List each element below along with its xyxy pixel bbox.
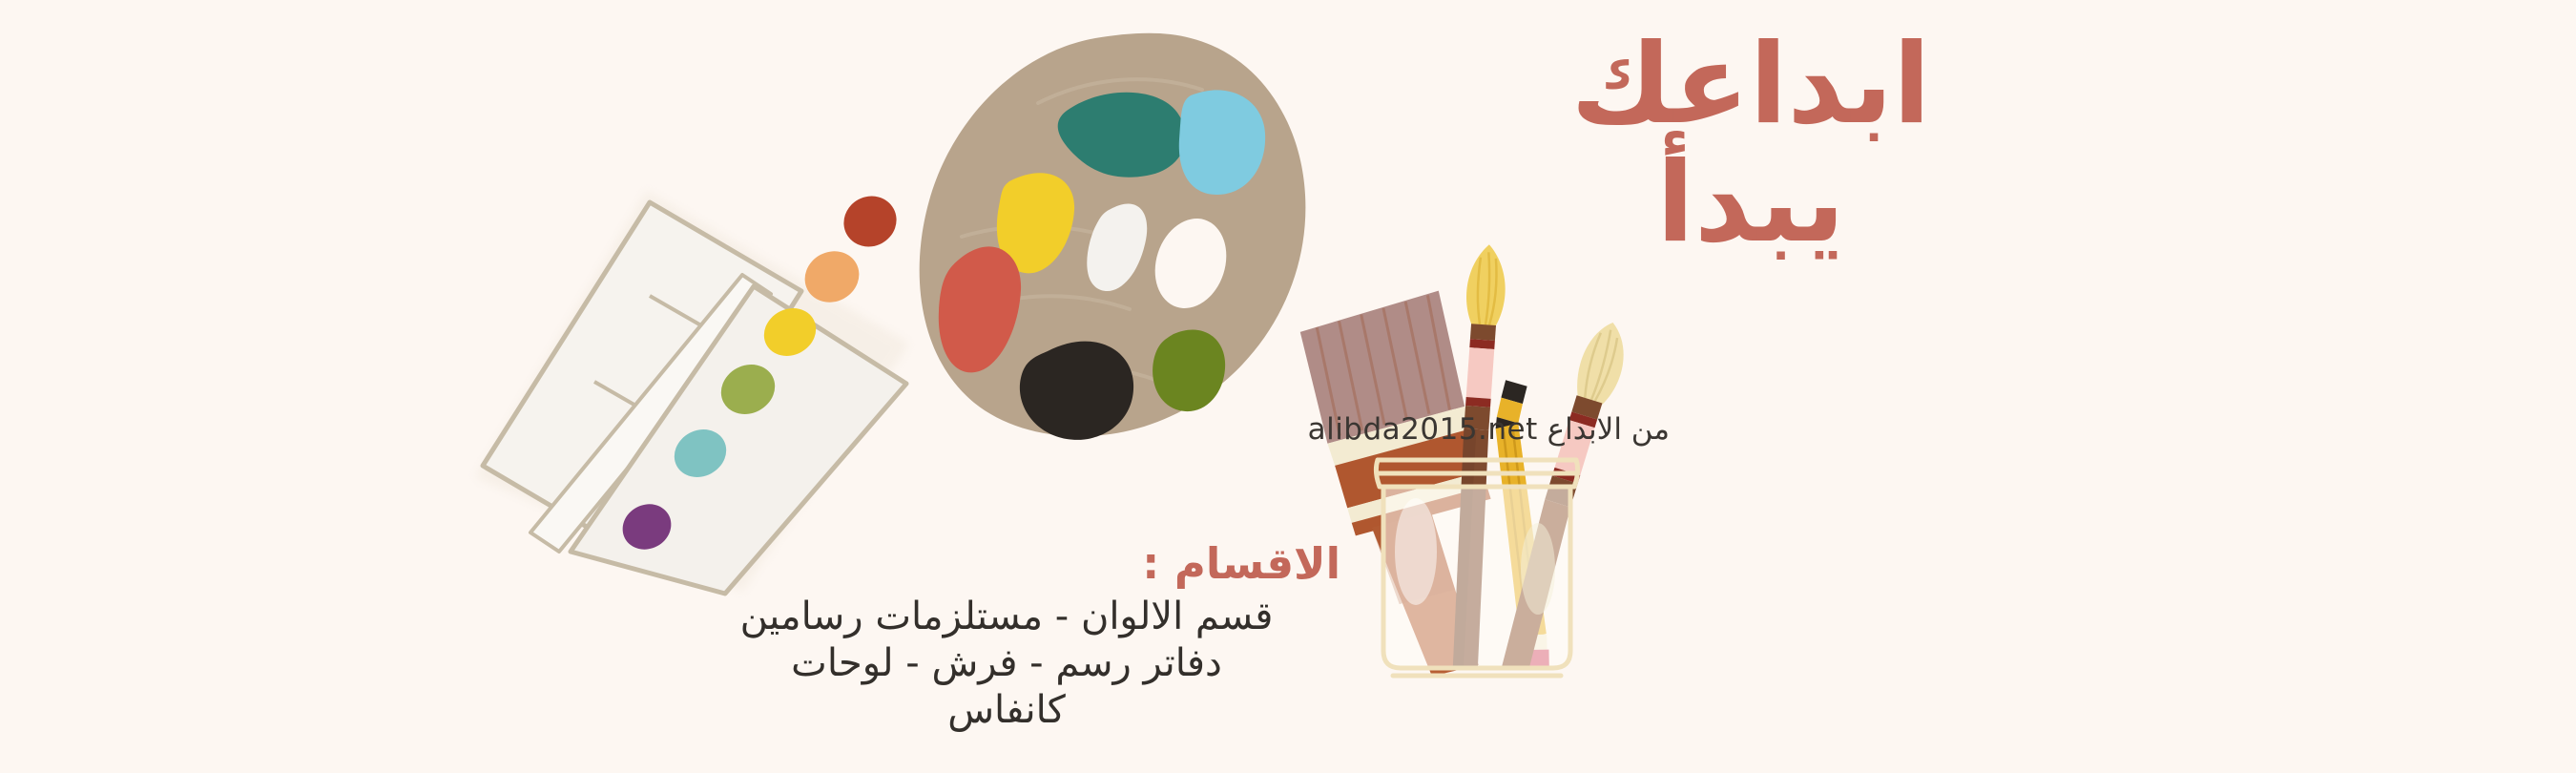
sections-line-1: قسم الالوان - مستلزمات رسامين bbox=[673, 594, 1340, 640]
tagline: من الابداع alibda2015.net bbox=[1308, 412, 1670, 447]
headline-line-1: ابداعك bbox=[1455, 29, 2046, 141]
blob-olive bbox=[1153, 329, 1225, 411]
glass-jar bbox=[1376, 460, 1577, 676]
sections-list: قسم الالوان - مستلزمات رسامين دفاتر رسم … bbox=[673, 594, 1340, 735]
artist-palette-illustration bbox=[904, 17, 1315, 456]
brush-jar-illustration bbox=[1334, 237, 1620, 685]
watercolor-set-illustration bbox=[456, 162, 914, 601]
sections-line-2: دفاتر رسم - فرش - لوحات bbox=[673, 640, 1340, 687]
sections-title: الاقسام : bbox=[1142, 538, 1340, 589]
promo-banner: ابداعك يبدأ من الابداع alibda2015.net ال… bbox=[0, 0, 2576, 773]
sections-line-3: كانفاس bbox=[673, 687, 1340, 734]
headline-line-2: يبدأ bbox=[1455, 147, 2046, 260]
headline: ابداعك يبدأ bbox=[1455, 29, 2046, 261]
pan-red bbox=[835, 187, 905, 256]
